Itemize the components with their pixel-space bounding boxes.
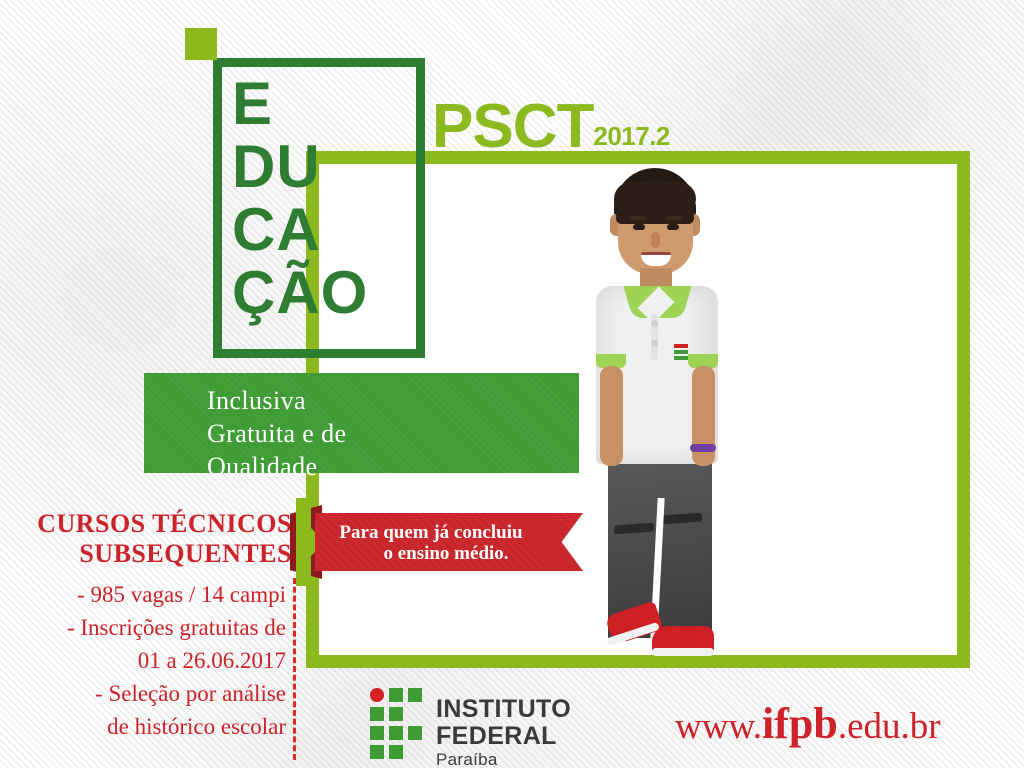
psct-year: 2017.2 <box>593 121 670 151</box>
tagline-line-3: Qualidade <box>207 450 346 483</box>
logo-square <box>370 726 384 740</box>
ribbon-text: Para quem já concluiu o ensino médio. <box>315 522 547 564</box>
corner-accent-square <box>185 28 217 60</box>
website-url[interactable]: www.ifpb.edu.br <box>675 704 941 747</box>
educacao-line-3: CA <box>232 198 462 261</box>
tagline-block: Inclusiva Gratuita e de Qualidade <box>144 373 579 473</box>
list-item: - 985 vagas / 14 campi <box>14 578 286 611</box>
ifpb-logo: INSTITUTO FEDERAL Paraíba <box>370 688 620 752</box>
logo-square <box>408 688 422 702</box>
logo-square <box>408 726 422 740</box>
list-item: - Seleção por análise <box>14 677 286 710</box>
logo-square <box>389 726 403 740</box>
photo-eye-left <box>633 224 645 230</box>
educacao-wordmark: E DU CA ÇÃO <box>232 72 462 324</box>
photo-eye-right <box>667 224 679 230</box>
logo-square <box>389 745 403 759</box>
logo-square <box>370 745 384 759</box>
logo-dot <box>370 688 384 702</box>
tagline-line-2: Gratuita e de <box>207 417 346 450</box>
logo-square <box>370 707 384 721</box>
list-item: de histórico escolar <box>14 710 286 743</box>
website-prefix: www. <box>675 706 762 747</box>
website-suffix: .edu.br <box>838 706 941 747</box>
psct-headline: PSCT2017.2 <box>432 96 670 167</box>
logo-subtitle: Paraíba <box>436 750 620 768</box>
course-headline-line-1: CURSOS TÉCNICOS <box>14 509 292 539</box>
tagline-text: Inclusiva Gratuita e de Qualidade <box>207 384 346 483</box>
photo-button-top <box>651 320 658 327</box>
website-brand: ifpb <box>762 699 838 748</box>
photo-nose <box>651 232 660 248</box>
photo-wristband <box>690 444 716 452</box>
logo-square <box>389 707 403 721</box>
educacao-line-2: DU <box>232 135 462 198</box>
student-photo <box>556 168 776 668</box>
ribbon-line-1: Para quem já concluiu <box>315 522 547 543</box>
educacao-line-1: E <box>232 72 462 135</box>
dashed-divider <box>293 578 296 760</box>
details-list: - 985 vagas / 14 campi - Inscrições grat… <box>14 578 286 743</box>
photo-sole-right <box>652 648 714 656</box>
course-headline-line-2: SUBSEQUENTES <box>14 539 292 569</box>
photo-shirt-logo-icon <box>674 344 688 360</box>
psct-name: PSCT <box>432 92 593 161</box>
photo-eyebrow-right <box>665 216 682 220</box>
ifpb-mark-icon <box>370 688 426 750</box>
photo-button-bottom <box>651 340 658 347</box>
photo-eyebrow-left <box>630 216 647 220</box>
educacao-line-4: ÇÃO <box>232 261 462 324</box>
tagline-line-1: Inclusiva <box>207 384 346 417</box>
requirement-ribbon: Para quem já concluiu o ensino médio. <box>315 513 583 571</box>
list-item: 01 a 26.06.2017 <box>14 644 286 677</box>
logo-square <box>389 688 403 702</box>
ifpb-logo-text: INSTITUTO FEDERAL Paraíba <box>436 696 620 768</box>
list-item: - Inscrições gratuitas de <box>14 611 286 644</box>
photo-arm-left <box>600 366 623 466</box>
poster-canvas: E DU CA ÇÃO PSCT2017.2 Inclusiva Gratuit… <box>0 0 1024 768</box>
ribbon-line-2: o ensino médio. <box>315 543 547 564</box>
logo-title: INSTITUTO FEDERAL <box>436 696 620 750</box>
photo-hair-fringe <box>614 182 696 210</box>
course-headline: CURSOS TÉCNICOS SUBSEQUENTES <box>14 509 292 569</box>
